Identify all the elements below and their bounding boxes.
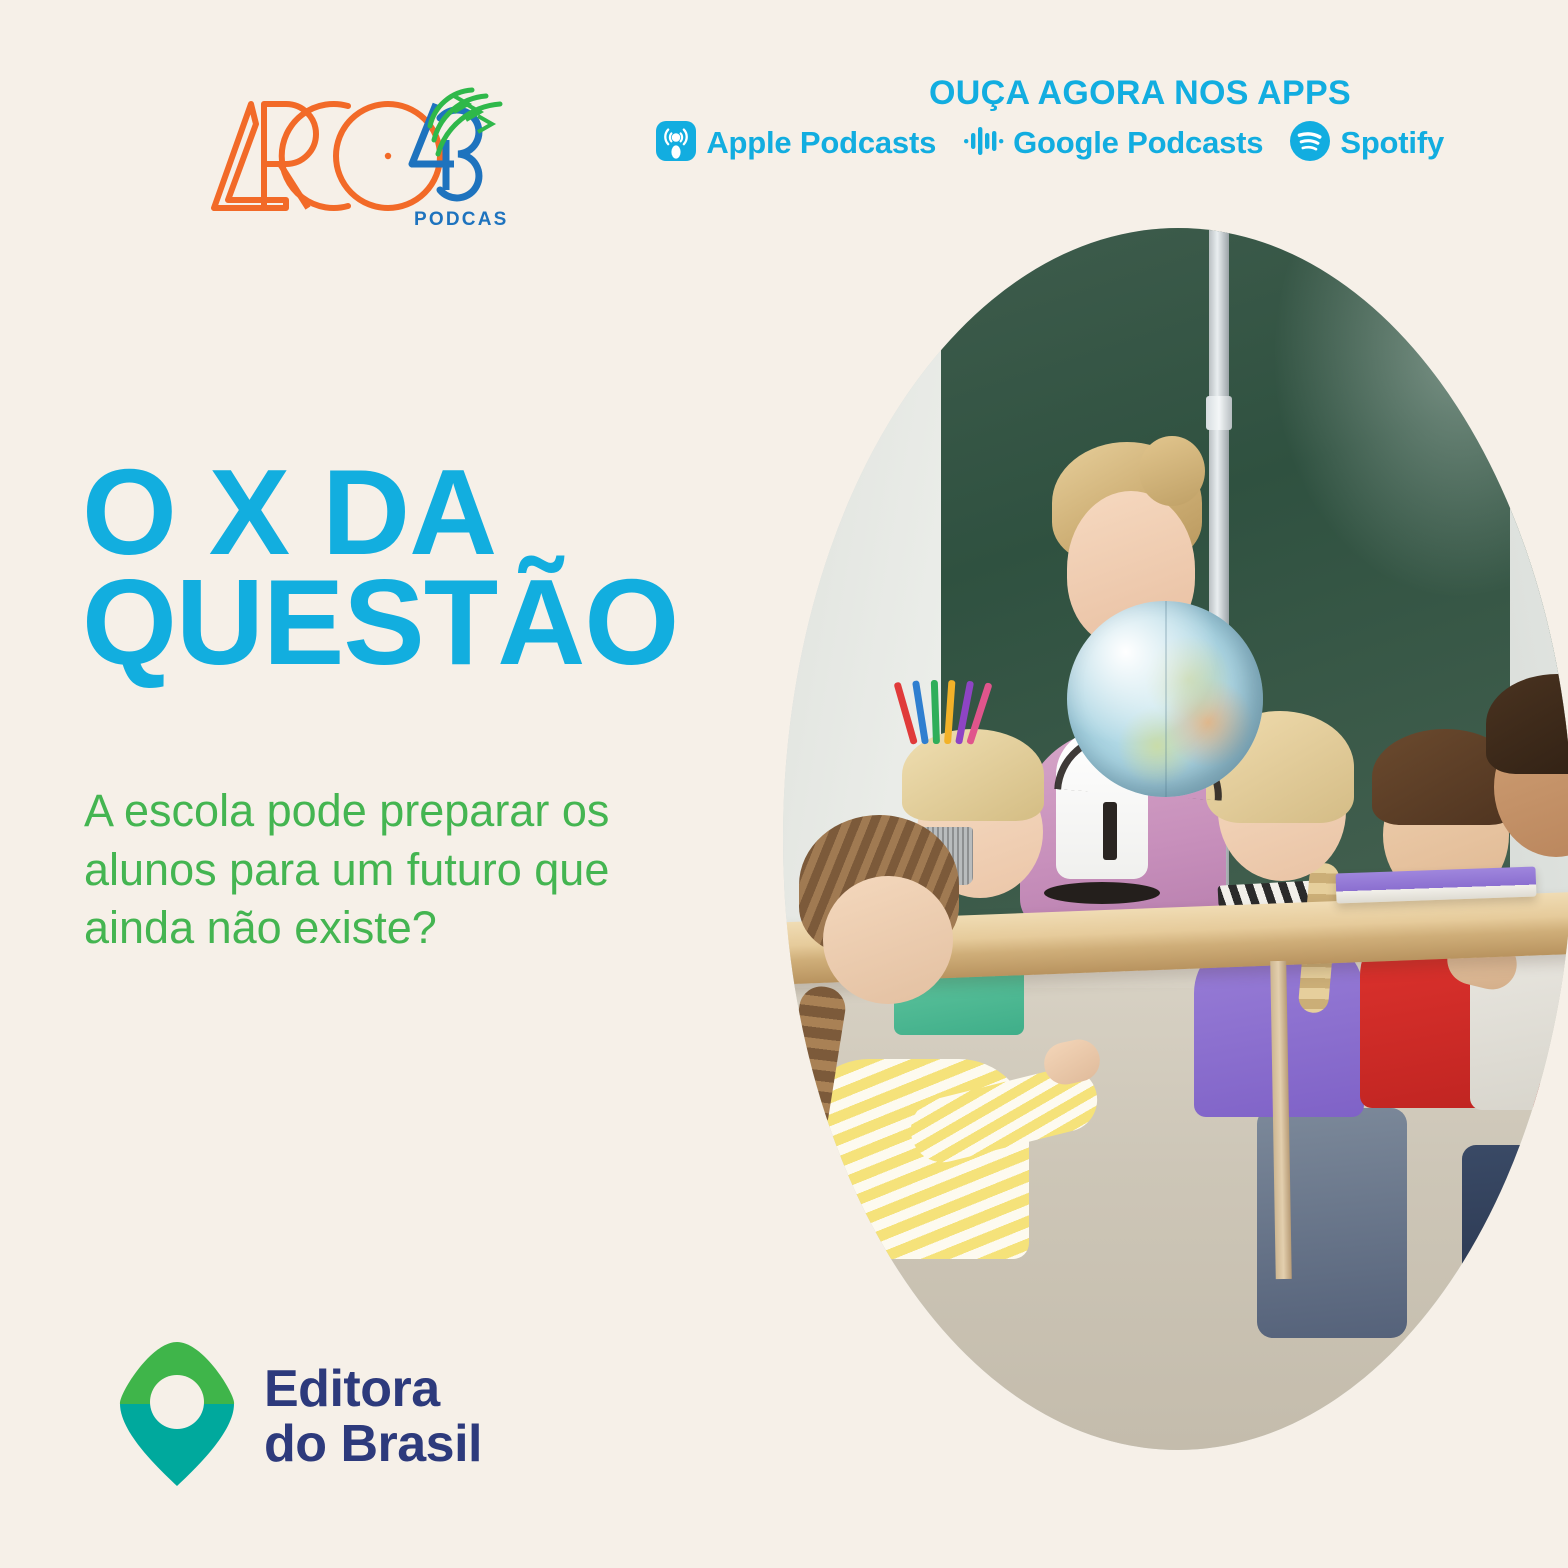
spotify-link[interactable]: Spotify: [1289, 120, 1444, 167]
arco43-podcast-logo[interactable]: PODCAST: [208, 82, 508, 237]
apps-heading: OUÇA AGORA NOS APPS: [676, 76, 1444, 112]
colored-pencils: [909, 680, 981, 744]
google-podcasts-label: Google Podcasts: [1013, 125, 1263, 161]
episode-subtitle: A escola pode preparar os alunos para um…: [84, 782, 724, 958]
apple-podcasts-icon: [655, 120, 697, 167]
purple-book: [1336, 866, 1537, 903]
listen-on-apps: OUÇA AGORA NOS APPS Apple Podcasts: [676, 76, 1444, 167]
apps-row: Apple Podcasts Google: [676, 120, 1444, 167]
svg-text:PODCAST: PODCAST: [414, 209, 508, 230]
editora-do-brasil-logo[interactable]: Editora do Brasil: [118, 1340, 482, 1493]
student-braided-girl-face: [823, 876, 953, 1004]
google-podcasts-link[interactable]: Google Podcasts: [962, 120, 1263, 167]
teacher-hair-bun: [1139, 436, 1205, 506]
student-jeans-right: [1462, 1145, 1568, 1345]
editora-line2: do Brasil: [264, 1415, 482, 1473]
spotify-label: Spotify: [1340, 125, 1444, 161]
episode-title-line2: QUESTÃO: [82, 568, 822, 678]
editora-do-brasil-wordmark: Editora do Brasil: [264, 1362, 482, 1470]
episode-title: O X DA QUESTÃO: [82, 458, 822, 678]
globe-sphere: [1067, 601, 1263, 797]
podcast-poster: PODCAST OUÇA AGORA NOS APPS A: [0, 0, 1568, 1568]
spotify-icon: [1289, 120, 1331, 167]
globe-stand: [1103, 802, 1117, 860]
classroom-photo: [783, 228, 1568, 1450]
editora-line1: Editora: [264, 1360, 440, 1418]
apple-podcasts-link[interactable]: Apple Podcasts: [655, 120, 936, 167]
apple-podcasts-label: Apple Podcasts: [706, 125, 936, 161]
google-podcasts-icon: [962, 120, 1004, 167]
globe-base: [1044, 882, 1160, 904]
editora-do-brasil-diamond-logo: [118, 1340, 236, 1493]
photo-scene: [783, 228, 1568, 1450]
